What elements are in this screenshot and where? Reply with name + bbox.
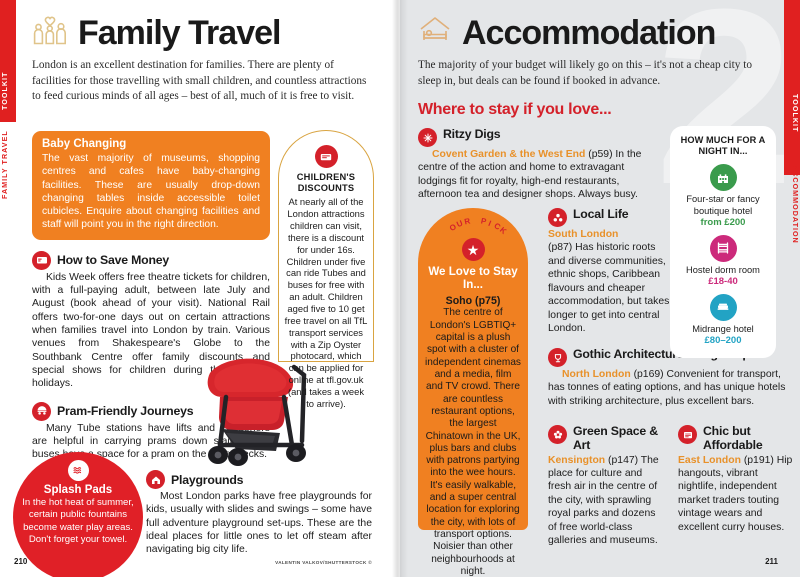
listing-body: (p147) The place for culture and fresh a… (548, 455, 659, 547)
listing-body: (p87) Has historic roots and diverse com… (548, 242, 669, 334)
double-bed-icon (710, 294, 737, 321)
childrens-discounts-title: CHILDREN'S DISCOUNTS (284, 172, 368, 193)
price-label: Hostel dorm room (678, 265, 768, 276)
listing-title: Chic but Affordable (703, 425, 796, 453)
page-title: Accommodation (462, 16, 715, 50)
childrens-discounts-body: At nearly all of the London attractions … (284, 196, 368, 409)
where-to-stay-heading: Where to stay if you love... (418, 101, 768, 119)
sparkle-icon (418, 128, 437, 147)
entry-title: Pram-Friendly Journeys (57, 404, 193, 418)
baby-changing-box: Baby Changing The vast majority of museu… (32, 131, 270, 240)
bunkbed-icon (710, 235, 737, 262)
right-tab-toolkit-label: TOOLKIT (784, 84, 800, 142)
entry-body: Most London parks have free playgrounds … (146, 490, 372, 557)
bottom-listings-row: Green Space & Art Kensington (p147) The … (548, 425, 796, 547)
community-icon (548, 208, 567, 227)
castle-hotel-icon (710, 164, 737, 191)
glass-icon (548, 348, 567, 367)
left-page-header: Family Travel London is an excellent des… (32, 14, 372, 105)
right-tab-section-label: ACCOMMODATION (784, 150, 800, 258)
bed-icon (418, 14, 452, 51)
right-folio: 211 (765, 557, 778, 566)
price-value: £80–200 (678, 335, 768, 347)
price-row-four-star: Four-star or fancy boutique hotel from £… (678, 164, 768, 228)
listing-title: Ritzy Digs (443, 128, 500, 142)
listing-body: (p191) Hip hangouts, vibrant nightlife, … (678, 455, 792, 533)
listing-place: North London (562, 369, 631, 380)
listing-chic-but-affordable: Chic but Affordable East London (p191) H… (678, 425, 796, 547)
listing-local-life: Local Life South London (p87) Has histor… (548, 208, 670, 335)
splash-pads-callout: Splash Pads In the hot heat of summer, c… (13, 452, 143, 577)
playground-icon (146, 470, 165, 489)
right-intro-text: The majority of your budget will likely … (418, 58, 768, 89)
listing-ritzy-digs: Ritzy Digs Covent Garden & the West End … (418, 128, 656, 202)
left-folio: 210 (14, 557, 27, 566)
baby-changing-body: The vast majority of museums, shopping c… (42, 152, 260, 232)
right-page-header: Accommodation The majority of your budge… (418, 14, 768, 119)
price-value: £18-40 (678, 276, 768, 288)
our-pick-panel: O U R P I C K ★ We Love to Stay In... So… (418, 208, 528, 530)
childrens-discounts-panel: CHILDREN'S DISCOUNTS At nearly all of th… (278, 130, 374, 362)
entry-playgrounds: Playgrounds Most London parks have free … (146, 470, 372, 565)
ticket-icon (315, 145, 338, 168)
page-title: Family Travel (78, 16, 280, 50)
accommodation-heading: Accommodation (418, 14, 768, 51)
listing-place: South London (548, 229, 618, 240)
family-icon (32, 14, 68, 51)
entry-title: How to Save Money (57, 253, 169, 267)
entry-title: Playgrounds (171, 473, 243, 487)
splash-pads-body: In the hot heat of summer, certain publi… (13, 497, 143, 546)
right-page: 2 TOOLKIT ACCOMMODATION (400, 0, 800, 577)
listing-place: Covent Garden & the West End (432, 149, 585, 160)
baby-changing-title: Baby Changing (42, 138, 260, 150)
price-value: from £200 (678, 217, 768, 229)
our-pick-body: The centre of London's LGBTIQ+ capital i… (425, 307, 521, 577)
water-icon (68, 460, 89, 481)
price-label: Midrange hotel (678, 324, 768, 335)
our-pick-badge: O U R P I C K (425, 214, 521, 238)
price-row-midrange: Midrange hotel £80–200 (678, 294, 768, 347)
left-page: TOOLKIT FAMILY TRAVEL (0, 0, 400, 577)
left-tab-toolkit-label: TOOLKIT (0, 62, 16, 120)
listing-place: Kensington (548, 455, 605, 466)
family-travel-heading: Family Travel (32, 14, 372, 51)
listing-place: East London (678, 455, 741, 466)
star-icon: ★ (462, 238, 485, 261)
money-icon (32, 251, 51, 270)
book-spread: TOOLKIT FAMILY TRAVEL (0, 0, 800, 577)
left-tab-section-label: FAMILY TRAVEL (0, 128, 16, 202)
price-card-title: HOW MUCH FOR A NIGHT IN... (678, 135, 768, 157)
splash-pads-title: Splash Pads (13, 484, 143, 496)
our-pick-place: Soho (p75) (425, 295, 521, 307)
price-row-hostel: Hostel dorm room £18-40 (678, 235, 768, 288)
price-label: Four-star or fancy boutique hotel (678, 194, 768, 216)
pram-icon (32, 402, 51, 421)
photo-credit: VALENTIN VALKOV/SHUTTERSTOCK © (146, 560, 372, 565)
flower-icon (548, 425, 567, 444)
listing-title: Green Space & Art (573, 425, 666, 453)
price-card: HOW MUCH FOR A NIGHT IN... Four-star or … (670, 126, 776, 358)
listing-green-space-art: Green Space & Art Kensington (p147) The … (548, 425, 666, 547)
our-pick-heading: We Love to Stay In... (425, 265, 521, 291)
listing-title: Local Life (573, 208, 628, 222)
left-intro-text: London is an excellent destination for f… (32, 58, 372, 105)
market-icon (678, 425, 697, 444)
